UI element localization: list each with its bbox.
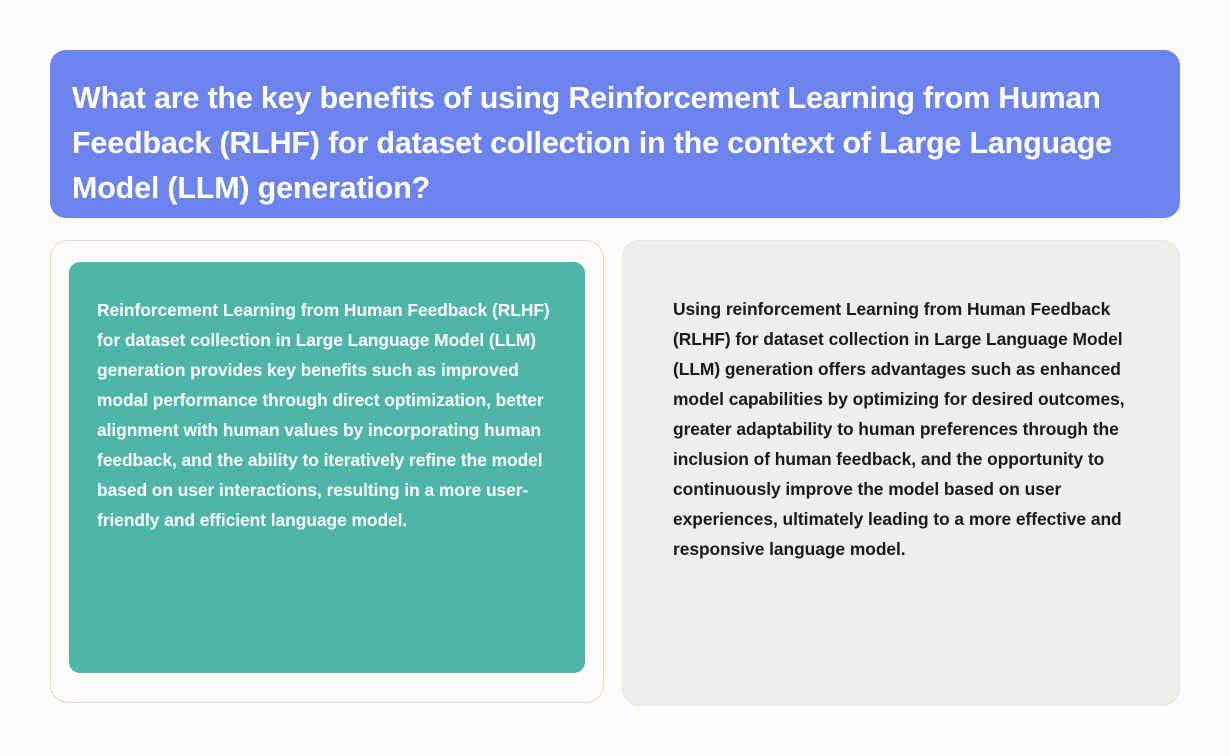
answer-left-highlight-panel: Reinforcement Learning from Human Feedba… <box>69 262 585 673</box>
answer-card-right[interactable]: Using reinforcement Learning from Human … <box>622 240 1180 706</box>
answer-left-text: Reinforcement Learning from Human Feedba… <box>97 295 559 535</box>
answer-right-text: Using reinforcement Learning from Human … <box>673 294 1153 564</box>
comparison-page: What are the key benefits of using Reinf… <box>0 0 1229 756</box>
question-text: What are the key benefits of using Reinf… <box>72 76 1137 211</box>
question-banner: What are the key benefits of using Reinf… <box>50 50 1180 218</box>
answers-row: Reinforcement Learning from Human Feedba… <box>50 240 1180 708</box>
answer-card-left[interactable]: Reinforcement Learning from Human Feedba… <box>50 240 604 703</box>
